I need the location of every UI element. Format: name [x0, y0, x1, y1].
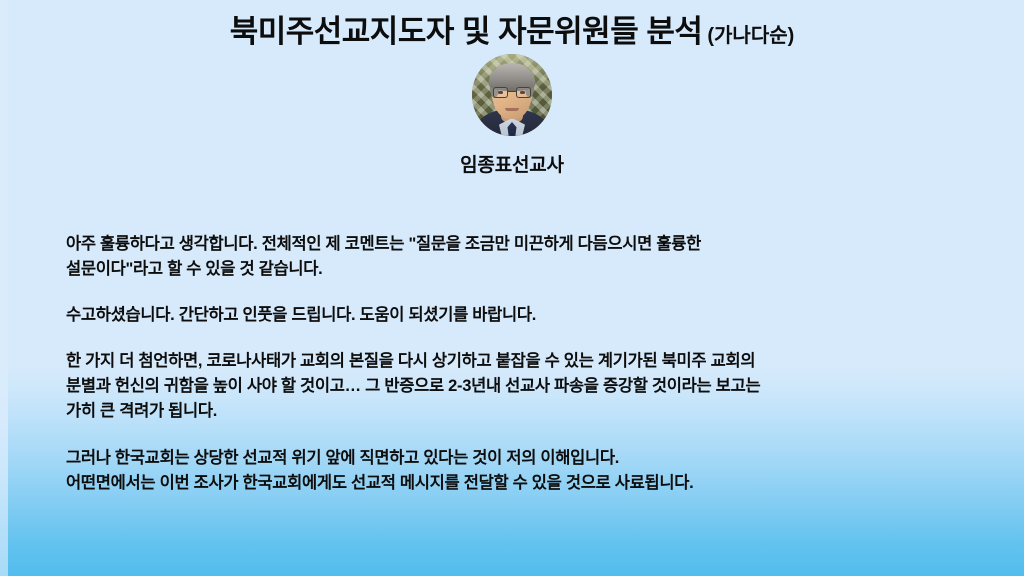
glasses-icon [493, 87, 531, 98]
glasses-lens-left [493, 87, 508, 98]
glasses-lens-right [516, 87, 531, 98]
person-name: 임종표선교사 [0, 150, 1024, 177]
avatar-mouth [505, 108, 519, 111]
comment-paragraph-2: 수고하셨습니다. 간단하고 인풋을 드립니다. 도움이 되셨기를 바랍니다. [66, 303, 966, 328]
slide-title: 북미주선교지도자 및 자문위원들 분석(가나다순) [0, 6, 1024, 51]
comment-paragraph-1: 아주 훌륭하다고 생각합니다. 전체적인 제 코멘트는 "질문을 조금만 미끈하… [66, 232, 966, 282]
comment-paragraph-3: 한 가지 더 첨언하면, 코로나사태가 교회의 본질을 다시 상기하고 붙잡을 … [66, 349, 966, 424]
comment-body: 아주 훌륭하다고 생각합니다. 전체적인 제 코멘트는 "질문을 조금만 미끈하… [66, 232, 966, 496]
comment-paragraph-4: 그러나 한국교회는 상당한 선교적 위기 앞에 직면하고 있다는 것이 저의 이… [66, 446, 966, 496]
slide-title-suffix: (가나다순) [707, 25, 794, 47]
avatar [472, 54, 552, 136]
glasses-bridge [508, 91, 516, 92]
person-block: 임종표선교사 [0, 54, 1024, 177]
presentation-slide: 북미주선교지도자 및 자문위원들 분석(가나다순) 임종표선교사 [0, 0, 1024, 576]
slide-title-main: 북미주선교지도자 및 자문위원들 분석 [230, 14, 703, 49]
